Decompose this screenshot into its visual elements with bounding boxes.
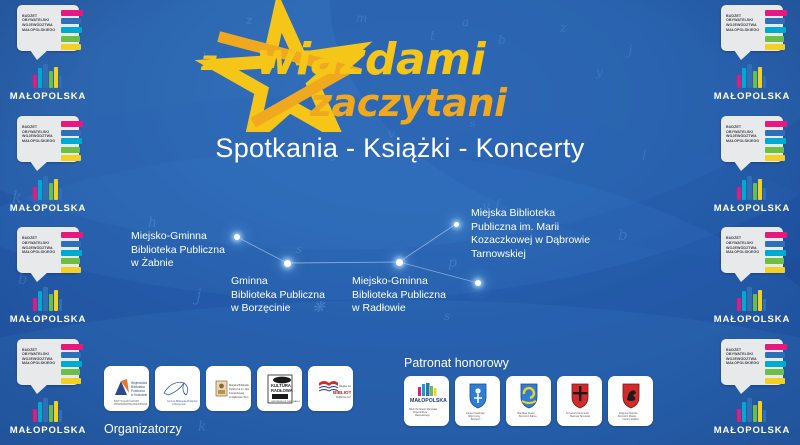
organizers-caption: Organizatorzy (104, 422, 182, 436)
library-name-line: Kozaczkowej w Dąbrowie (471, 234, 590, 246)
patrons-logo-row: MAŁOPOLSKAWitold Kozłowski MarszałekWoje… (404, 376, 653, 426)
title-line-2: zaczytani (310, 81, 507, 125)
library-name-line: Miejsko-Gminna (352, 275, 428, 287)
svg-text:Miejsko-Gminna: Miejsko-Gminna (339, 385, 351, 388)
title-letter-z: z (201, 46, 217, 77)
svg-text:Witold Kozłowski Marszałek: Witold Kozłowski Marszałek (409, 408, 438, 411)
svg-text:i Gminy Radłów: i Gminy Radłów (622, 418, 639, 421)
constellation-lines (0, 190, 800, 350)
organizer-logo-mbp-dabrowa: Miejska BibliotekaPubliczna im. MariiKoz… (206, 366, 251, 411)
svg-text:Borzęcin: Borzęcin (471, 418, 481, 421)
svg-text:INSTYTUCJA KULTURY: INSTYTUCJA KULTURY (114, 400, 140, 403)
library-name-line: Miejsko-Gminna (131, 230, 207, 242)
library-name-line: Tarnowskiej (471, 248, 526, 260)
constellation-star (475, 280, 481, 286)
patronage-caption: Patronat honorowy (404, 356, 509, 370)
organizers-logo-row: WojewódzkaBibliotekaPublicznaw KrakowieI… (104, 366, 353, 411)
svg-text:w Krakowie: w Krakowie (131, 393, 147, 397)
svg-text:Małopolskiego: Małopolskiego (415, 415, 430, 417)
library-name-line: w Radłowie (352, 302, 406, 314)
patron-logo-starosta-tarnow: Krzysztof KaczmarskiStarosta Tarnowski (557, 376, 602, 426)
svg-text:Kozaczkowej: Kozaczkowej (229, 391, 245, 395)
svg-text:Województwa: Województwa (413, 411, 428, 414)
library-name-line: Gminna (231, 275, 268, 287)
svg-text:Burmistrz Żabna: Burmistrz Żabna (519, 415, 537, 418)
svg-text:MAŁOPOLSKA: MAŁOPOLSKA (410, 398, 447, 404)
organizer-logo-mgbp-zabno: Miejsko-GminnaBIBLIOTEKAPubliczna w Żabn… (308, 366, 353, 411)
library-name-line: w Żabnie (131, 257, 174, 269)
organizer-logo-gbp-borzecin: Gminna Biblioteka Publicznaw Borzęcinie (155, 366, 200, 411)
constellation-line (237, 237, 287, 263)
library-name-line: w Borzęcinie (231, 302, 291, 314)
patron-logo-marszalek: MAŁOPOLSKAWitold Kozłowski MarszałekWoje… (404, 376, 449, 426)
library-name-line: Publiczna im. Marii (471, 221, 559, 233)
organizer-logo-mgbp-radlow: KULTURARADŁOWACENTRUM KULTURY RADŁÓW (257, 366, 302, 411)
poster-canvas: kbhjs❋psyfbkzkatbzyksjmvlsa BUDŻETOBYWAT… (0, 0, 800, 445)
constellation-line (399, 224, 456, 262)
svg-text:Starosta Tarnowski: Starosta Tarnowski (570, 415, 591, 418)
constellation-star (234, 234, 240, 240)
poster-subtitle: Spotkania - Książki - Koncerty (0, 133, 800, 164)
constellation-line (287, 262, 399, 263)
svg-text:CENTRUM KULTURY RADŁÓW: CENTRUM KULTURY RADŁÓW (271, 400, 300, 403)
svg-text:Miejska Biblioteka: Miejska Biblioteka (229, 383, 249, 387)
constellation-star (396, 259, 403, 266)
library-name-line: Biblioteka Publiczna (352, 289, 446, 301)
organizer-logo-wbp-krakow: WojewódzkaBibliotekaPublicznaw KrakowieI… (104, 366, 149, 411)
poster-footer: WojewódzkaBibliotekaPublicznaw KrakowieI… (0, 350, 800, 445)
constellation-star (284, 260, 291, 267)
svg-text:w Borzęcinie: w Borzęcinie (172, 403, 186, 406)
label-borzecin: GminnaBiblioteka Publicznaw Borzęcinie (231, 275, 325, 316)
label-dabrowa: Miejska BibliotekaPubliczna im. MariiKoz… (471, 207, 590, 261)
library-constellation: Miejsko-GminnaBiblioteka Publicznaw Żabn… (0, 190, 800, 350)
library-name-line: Biblioteka Publiczna (131, 244, 225, 256)
patron-logo-burmistrz-zabno: Stanisław KusiorBurmistrz Żabna (506, 376, 551, 426)
poster-header: z wiazdami zaczytani (0, 0, 800, 130)
library-name-line: Miejska Biblioteka (471, 207, 555, 219)
svg-text:WOJEWÓDZTWA MAŁOPOLSKIEGO: WOJEWÓDZTWA MAŁOPOLSKIEGO (114, 403, 147, 406)
label-radlow: Miejsko-GminnaBiblioteka Publicznaw Radł… (352, 275, 446, 316)
svg-text:RADŁOWA: RADŁOWA (271, 388, 293, 393)
svg-text:Publiczna w Żabnie: Publiczna w Żabnie (336, 396, 351, 399)
patron-logo-wojt-borzecin: Janusz KwaśniakWójt GminyBorzęcin (455, 376, 500, 426)
library-name-line: Biblioteka Publiczna (231, 289, 325, 301)
svg-text:BIBLIOTEKA: BIBLIOTEKA (333, 390, 351, 395)
title-line-1: wiazdami (256, 34, 485, 85)
constellation-star (454, 222, 459, 227)
svg-text:Publiczna im. Marii: Publiczna im. Marii (229, 387, 249, 391)
patron-logo-burmistrz-radlow: Zbigniew MączkaBurmistrz Miastai Gminy R… (608, 376, 653, 426)
label-zabno: Miejsko-GminnaBiblioteka Publicznaw Żabn… (131, 230, 225, 271)
svg-text:w Dąbrowie Tarn.: w Dąbrowie Tarn. (229, 395, 249, 399)
poster-title: z wiazdami zaczytani (198, 8, 618, 126)
